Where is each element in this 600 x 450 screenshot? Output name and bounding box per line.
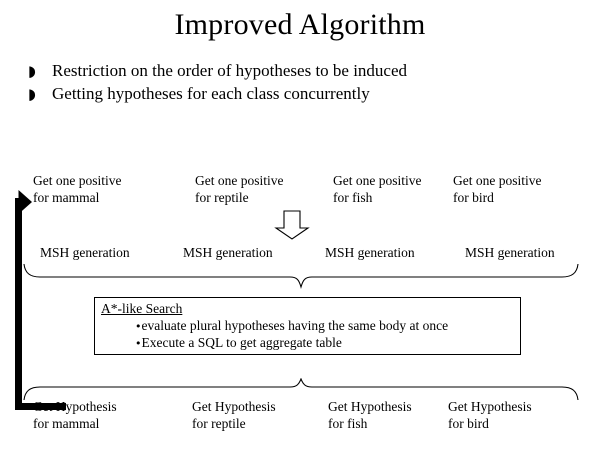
- stage-label-mammal: MSH generation: [40, 245, 130, 261]
- algorithm-flow-diagram: Get one positive for mammal Get one posi…: [0, 0, 600, 450]
- column-top-label-line2: for mammal: [33, 190, 121, 207]
- search-box-list-item: •Execute a SQL to get aggregate table: [135, 334, 342, 352]
- column-bottom-label-line2: for mammal: [33, 416, 117, 433]
- column-top-label-fish: Get one positive for fish: [333, 173, 421, 206]
- column-top-label-reptile: Get one positive for reptile: [195, 173, 283, 206]
- column-top-label-line2: for fish: [333, 190, 421, 207]
- column-bottom-label-line1: Get Hypothesis: [328, 399, 412, 416]
- stage-label-reptile: MSH generation: [183, 245, 273, 261]
- search-box-item-text: evaluate plural hypotheses having the sa…: [142, 318, 449, 333]
- column-bottom-label-line1: Get Hypothesis: [33, 399, 117, 416]
- column-bottom-label-line2: for bird: [448, 416, 532, 433]
- column-top-label-line1: Get one positive: [333, 173, 421, 190]
- column-bottom-label-reptile: Get Hypothesis for reptile: [192, 399, 276, 432]
- stage-label-bird: MSH generation: [465, 245, 555, 261]
- column-top-label-line2: for bird: [453, 190, 541, 207]
- column-top-label-mammal: Get one positive for mammal: [33, 173, 121, 206]
- column-top-label-line1: Get one positive: [195, 173, 283, 190]
- down-arrow-icon: [274, 209, 310, 241]
- search-box-list-item: •evaluate plural hypotheses having the s…: [135, 317, 448, 335]
- search-box-title: A*-like Search: [101, 300, 182, 317]
- search-method-box: A*-like Search •evaluate plural hypothes…: [94, 297, 521, 355]
- column-top-label-line1: Get one positive: [33, 173, 121, 190]
- column-top-label-bird: Get one positive for bird: [453, 173, 541, 206]
- column-top-label-line2: for reptile: [195, 190, 283, 207]
- converging-brace-icon: [22, 262, 580, 292]
- column-bottom-label-line1: Get Hypothesis: [192, 399, 276, 416]
- column-bottom-label-fish: Get Hypothesis for fish: [328, 399, 412, 432]
- column-bottom-label-line2: for fish: [328, 416, 412, 433]
- column-top-label-line1: Get one positive: [453, 173, 541, 190]
- slide-canvas: Improved Algorithm ◗ Restriction on the …: [0, 0, 600, 450]
- stage-label-fish: MSH generation: [325, 245, 415, 261]
- search-box-item-text: Execute a SQL to get aggregate table: [142, 335, 342, 350]
- column-bottom-label-line1: Get Hypothesis: [448, 399, 532, 416]
- column-bottom-label-line2: for reptile: [192, 416, 276, 433]
- column-bottom-label-mammal: Get Hypothesis for mammal: [33, 399, 117, 432]
- column-bottom-label-bird: Get Hypothesis for bird: [448, 399, 532, 432]
